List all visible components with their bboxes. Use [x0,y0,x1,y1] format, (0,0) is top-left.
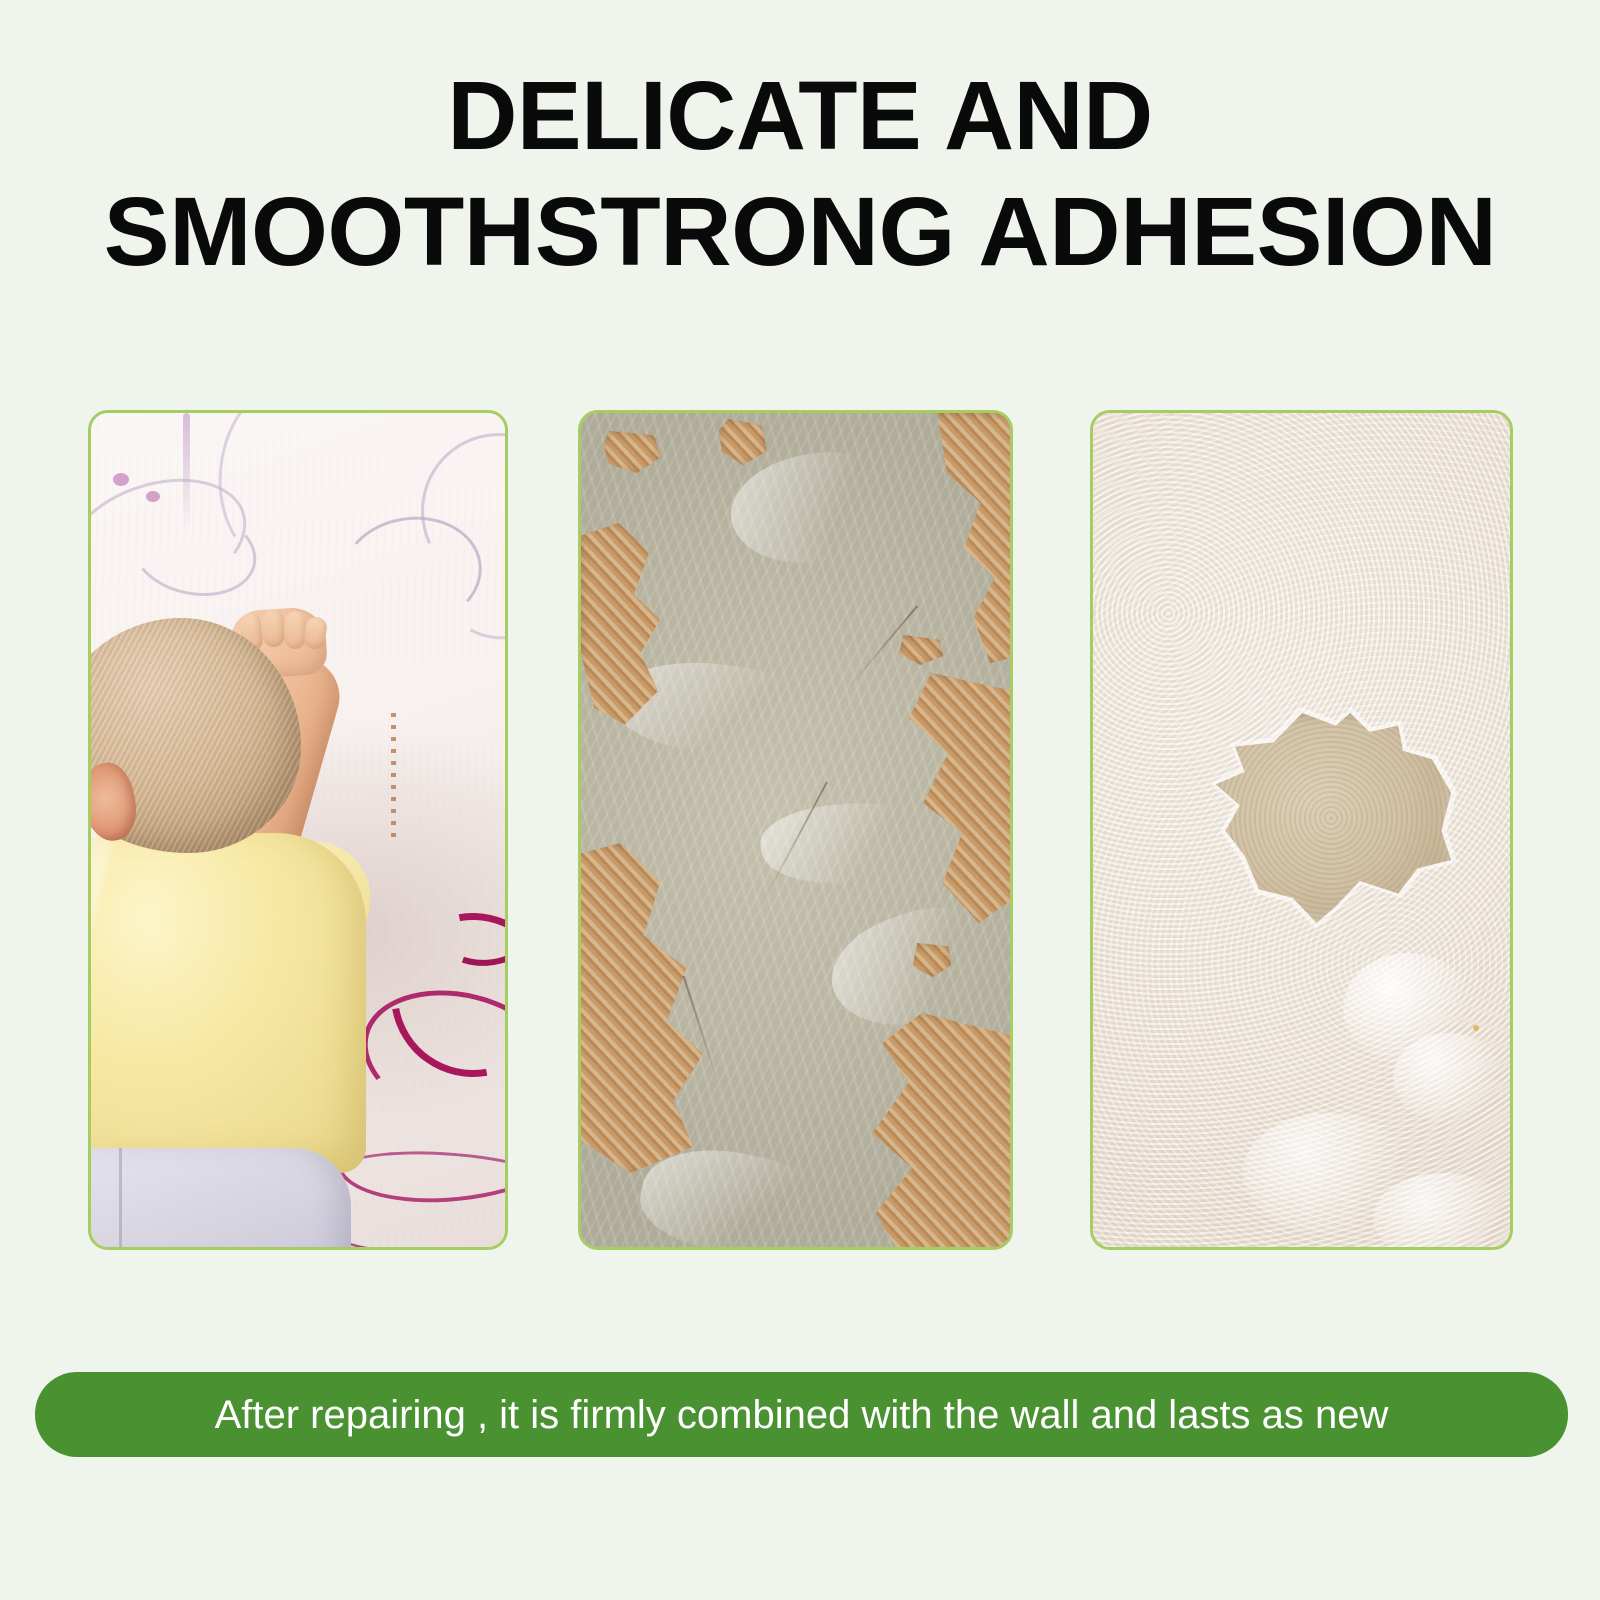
crayon-drip-mark [183,413,190,533]
baby-drawing-on-wall-image [91,413,505,1247]
page-title-line-2: SMOOTHSTRONG ADHESION [0,174,1600,290]
peeling-paint-wall-image [581,413,1010,1247]
crayon-dot [113,473,129,486]
baby-finger [262,609,284,648]
photo-panel-chipped-stucco-wall[interactable] [1090,410,1513,1250]
baby-yellow-shirt [91,833,366,1173]
photo-panel-peeling-paint-wall[interactable] [578,410,1013,1250]
page-title-line-1: DELICATE AND [0,58,1600,174]
bottom-caption-text: After repairing , it is firmly combined … [215,1395,1389,1435]
stucco-bump [1393,1033,1503,1123]
crayon-dot [146,491,160,502]
bottom-caption-banner: After repairing , it is firmly combined … [35,1372,1568,1457]
baby-grey-pants [91,1148,351,1247]
image-gallery [0,410,1600,1250]
baby-finger [284,610,307,649]
page-title: DELICATE AND SMOOTHSTRONG ADHESION [0,58,1600,290]
photo-panel-baby-drawing-on-wall[interactable] [88,410,508,1250]
paint-speck [1473,1025,1479,1031]
crayon-dotted-line [391,713,396,843]
chipped-stucco-wall-image [1093,413,1510,1247]
